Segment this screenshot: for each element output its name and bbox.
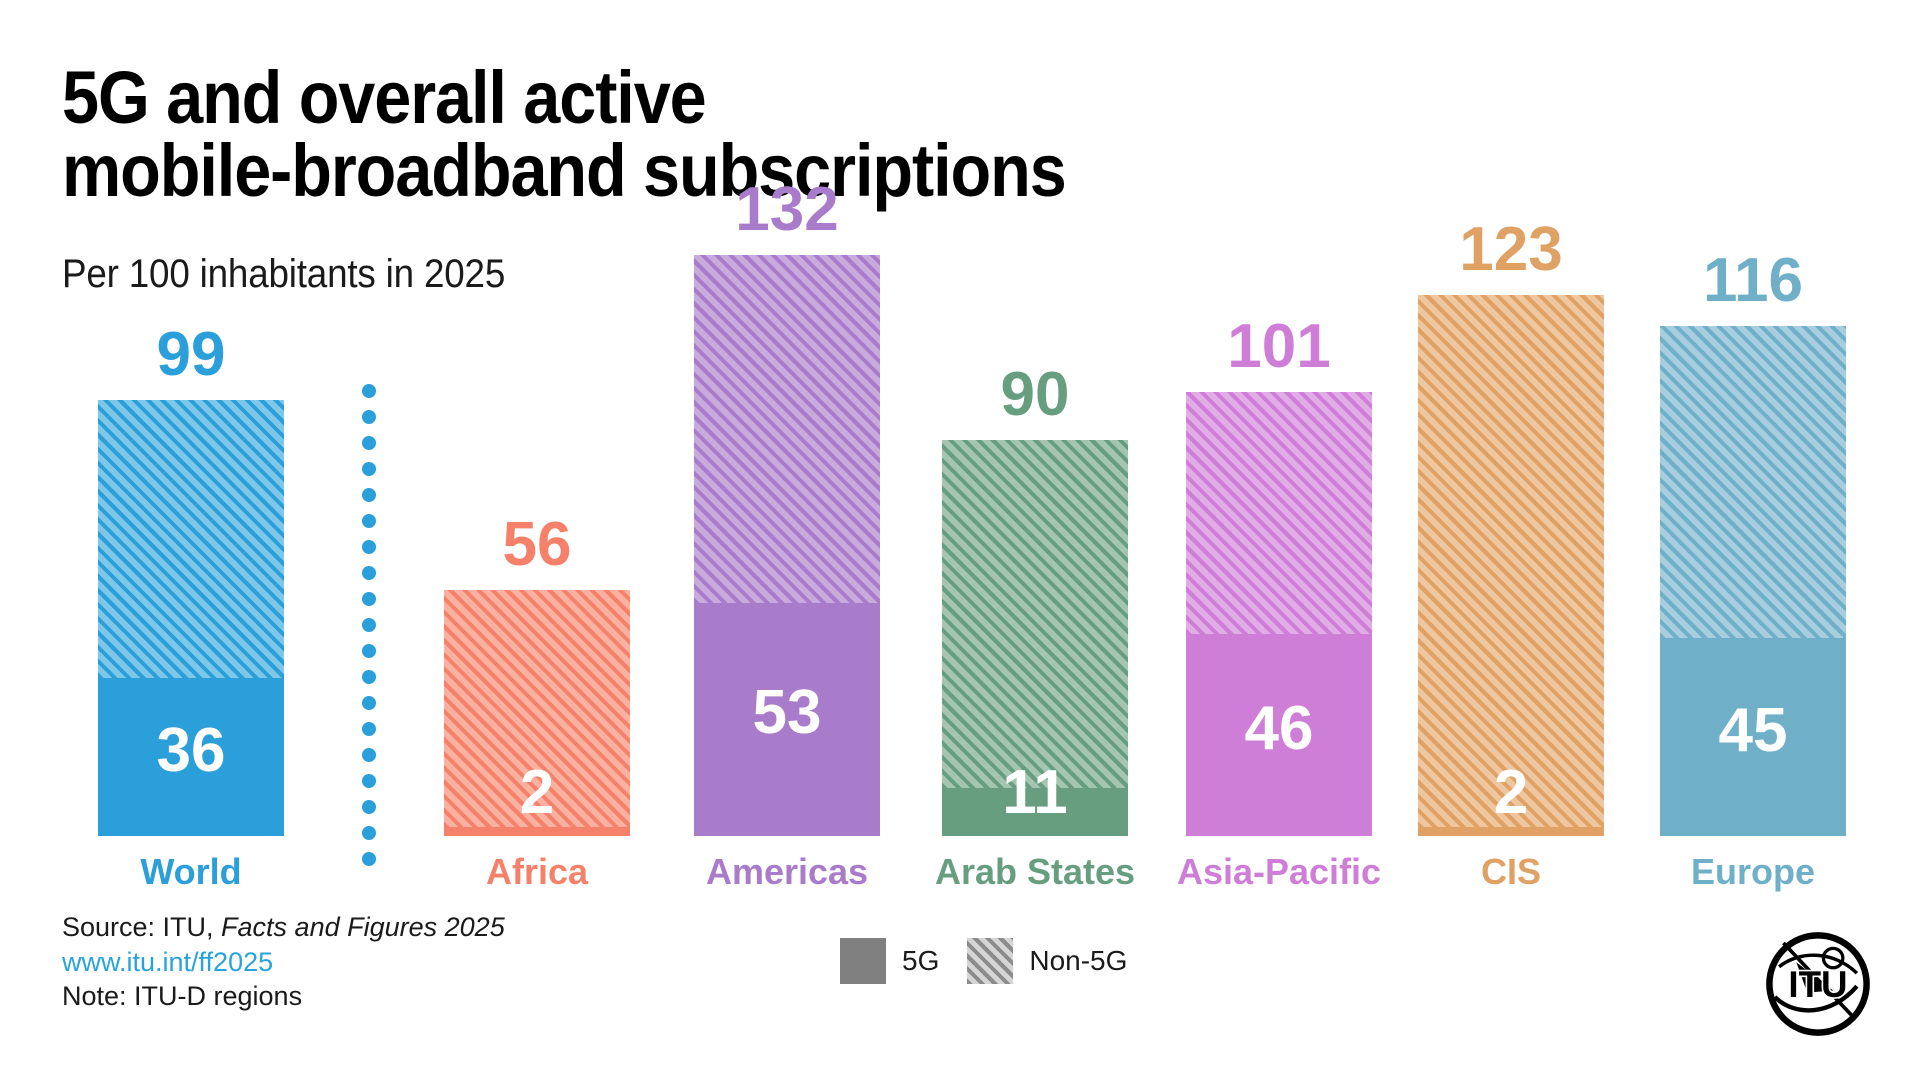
separator-dot xyxy=(362,410,376,424)
separator-dot xyxy=(362,826,376,840)
bar-segment-non5g xyxy=(1660,326,1846,638)
separator-dot xyxy=(362,748,376,762)
bar-5g-value-label: 2 xyxy=(1494,762,1528,824)
bar-total-label: 99 xyxy=(157,324,226,386)
bar-segment-non5g xyxy=(942,440,1128,788)
bar-category-label: Europe xyxy=(1691,854,1815,890)
bar-group: 10146Asia-Pacific xyxy=(1186,0,1372,1080)
bar-category-label: Arab States xyxy=(935,854,1135,890)
source-note-block: Source: ITU, Facts and Figures 2025 www.… xyxy=(62,910,505,1014)
bar-group: 1232CIS xyxy=(1418,0,1604,1080)
separator-dot xyxy=(362,462,376,476)
bar-total-label: 116 xyxy=(1703,250,1803,312)
bar-category-label: World xyxy=(140,854,241,890)
bar-segment-non5g xyxy=(694,255,880,603)
source-url-link[interactable]: www.itu.int/ff2025 xyxy=(62,945,505,980)
separator-dot xyxy=(362,488,376,502)
separator-dot xyxy=(362,670,376,684)
separator-dot xyxy=(362,514,376,528)
bar-segment-non5g xyxy=(98,400,284,677)
bar-5g-value-label: 46 xyxy=(1245,698,1314,760)
bar-5g-value-label: 36 xyxy=(157,720,226,782)
bar-5g-value-label: 53 xyxy=(753,682,822,744)
svg-text:ITU: ITU xyxy=(1788,964,1847,1005)
bar-total-label: 90 xyxy=(1001,364,1070,426)
separator-dot xyxy=(362,722,376,736)
separator-dot xyxy=(362,592,376,606)
bar-group: 9011Arab States xyxy=(942,0,1128,1080)
bar-category-label: CIS xyxy=(1481,854,1541,890)
separator-dot xyxy=(362,696,376,710)
legend-item-non5g: Non-5G xyxy=(967,938,1127,984)
bar-group: 13253Americas xyxy=(694,0,880,1080)
legend-swatch-hatched-icon xyxy=(967,938,1013,984)
bar-stack-americas[interactable] xyxy=(694,255,880,836)
bar-category-label: Africa xyxy=(486,854,588,890)
bar-segment-non5g xyxy=(1418,295,1604,827)
chart-legend: 5G Non-5G xyxy=(840,938,1127,984)
separator-dot xyxy=(362,540,376,554)
legend-item-5g: 5G xyxy=(840,938,939,984)
bar-total-label: 101 xyxy=(1227,316,1330,378)
bar-total-label: 123 xyxy=(1459,219,1562,281)
legend-label-5g: 5G xyxy=(902,945,939,977)
separator-dot xyxy=(362,436,376,450)
source-line: Source: ITU, Facts and Figures 2025 xyxy=(62,910,505,945)
bar-group: 11645Europe xyxy=(1660,0,1846,1080)
legend-label-non5g: Non-5G xyxy=(1029,945,1127,977)
bar-category-label: Americas xyxy=(706,854,868,890)
separator-dot xyxy=(362,566,376,580)
separator-dot xyxy=(362,800,376,814)
separator-dot xyxy=(362,618,376,632)
bar-stack-cis[interactable] xyxy=(1418,295,1604,836)
bar-segment-5g xyxy=(1418,827,1604,836)
bar-segment-non5g xyxy=(1186,392,1372,634)
bar-total-label: 132 xyxy=(735,179,838,241)
world-separator-dotted-line xyxy=(362,384,376,876)
separator-dot xyxy=(362,644,376,658)
bar-segment-5g xyxy=(444,827,630,836)
separator-dot xyxy=(362,852,376,866)
bar-category-label: Asia-Pacific xyxy=(1177,854,1381,890)
bar-5g-value-label: 11 xyxy=(1002,762,1068,824)
bar-total-label: 56 xyxy=(503,514,572,576)
bar-5g-value-label: 2 xyxy=(520,762,554,824)
separator-dot xyxy=(362,384,376,398)
infographic-canvas: 5G and overall active mobile-broadband s… xyxy=(0,0,1920,1080)
source-prefix: Source: ITU, xyxy=(62,912,221,942)
separator-dot xyxy=(362,774,376,788)
bar-stack-asia-pacific[interactable] xyxy=(1186,392,1372,836)
source-note: Note: ITU-D regions xyxy=(62,979,505,1014)
itu-logo-icon: ITU xyxy=(1764,930,1872,1038)
bar-5g-value-label: 45 xyxy=(1719,700,1788,762)
source-publication: Facts and Figures 2025 xyxy=(221,912,505,942)
legend-swatch-solid-icon xyxy=(840,938,886,984)
